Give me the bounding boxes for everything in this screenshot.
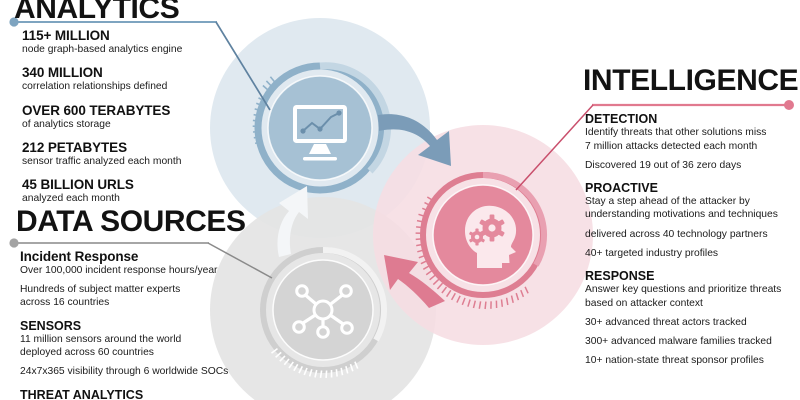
data-sources-item: Incident Response Over 100,000 incident … [20,249,235,310]
stat-headline: 45 BILLION URLS [22,177,222,192]
item-line: Over 100,000 incident response hours/yea… [20,264,235,277]
stat-headline: 340 MILLION [22,65,222,80]
item-line: Hundreds of subject matter experts [20,283,235,296]
item-headline: PROACTIVE [585,181,797,195]
item-line: based on attacker context [585,297,797,310]
intelligence-item: DETECTION Identify threats that other so… [585,112,797,172]
data-sources-title: DATA SOURCES [16,207,246,237]
item-line: Discovered 19 out of 36 zero days [585,159,797,172]
stat-headline: OVER 600 TERABYTES [22,103,222,118]
intelligence-list: DETECTION Identify threats that other so… [585,112,797,376]
data-sources-list: Incident Response Over 100,000 incident … [20,249,235,400]
item-line: 300+ advanced malware families tracked [585,335,797,348]
item-line: 40+ targeted industry profiles [585,247,797,260]
infographic-canvas: ANALYTICS 115+ MILLION node graph-based … [0,0,800,400]
analytics-stat-item: 340 MILLION correlation relationships de… [22,65,222,93]
item-line: 7 million attacks detected each month [585,140,797,153]
analytics-medallion [253,66,388,190]
item-headline: SENSORS [20,319,235,333]
analytics-stat-list: 115+ MILLION node graph-based analytics … [22,28,222,214]
item-line: Stay a step ahead of the attacker by [585,195,797,208]
intelligence-item: PROACTIVE Stay a step ahead of the attac… [585,181,797,260]
data-sources-item: THREAT ANALYTICS Billions of events proc… [20,388,235,400]
analytics-stat-item: 45 BILLION URLS analyzed each month [22,177,222,205]
stat-subline: node graph-based analytics engine [22,43,222,56]
data-sources-item: SENSORS 11 million sensors around the wo… [20,319,235,379]
item-line: delivered across 40 technology partners [585,228,797,241]
analytics-stat-item: 212 PETABYTES sensor traffic analyzed ea… [22,140,222,168]
intelligence-item: RESPONSE Answer key questions and priori… [585,269,797,367]
stat-subline: correlation relationships defined [22,80,222,93]
stat-headline: 115+ MILLION [22,28,222,43]
stat-subline: of analytics storage [22,118,222,131]
analytics-stat-item: 115+ MILLION node graph-based analytics … [22,28,222,56]
item-line: deployed across 60 countries [20,346,235,359]
item-line: 11 million sensors around the world [20,333,235,346]
item-headline: RESPONSE [585,269,797,283]
intelligence-title: INTELLIGENCE [583,66,798,96]
item-headline: DETECTION [585,112,797,126]
item-headline: Incident Response [20,249,235,264]
item-line: Answer key questions and prioritize thre… [585,283,797,296]
item-line: 10+ nation-state threat sponsor profiles [585,354,797,367]
stat-headline: 212 PETABYTES [22,140,222,155]
stat-subline: sensor traffic analyzed each month [22,155,222,168]
item-headline: THREAT ANALYTICS [20,388,235,400]
item-line: Identify threats that other solutions mi… [585,126,797,139]
item-line: understanding motivations and techniques [585,208,797,221]
stat-subline: analyzed each month [22,192,222,205]
item-line: 24x7x365 visibility through 6 worldwide … [20,365,235,378]
item-line: 30+ advanced threat actors tracked [585,316,797,329]
analytics-stat-item: OVER 600 TERABYTES of analytics storage [22,103,222,131]
item-line: across 16 countries [20,296,235,309]
analytics-title: ANALYTICS [14,0,179,24]
